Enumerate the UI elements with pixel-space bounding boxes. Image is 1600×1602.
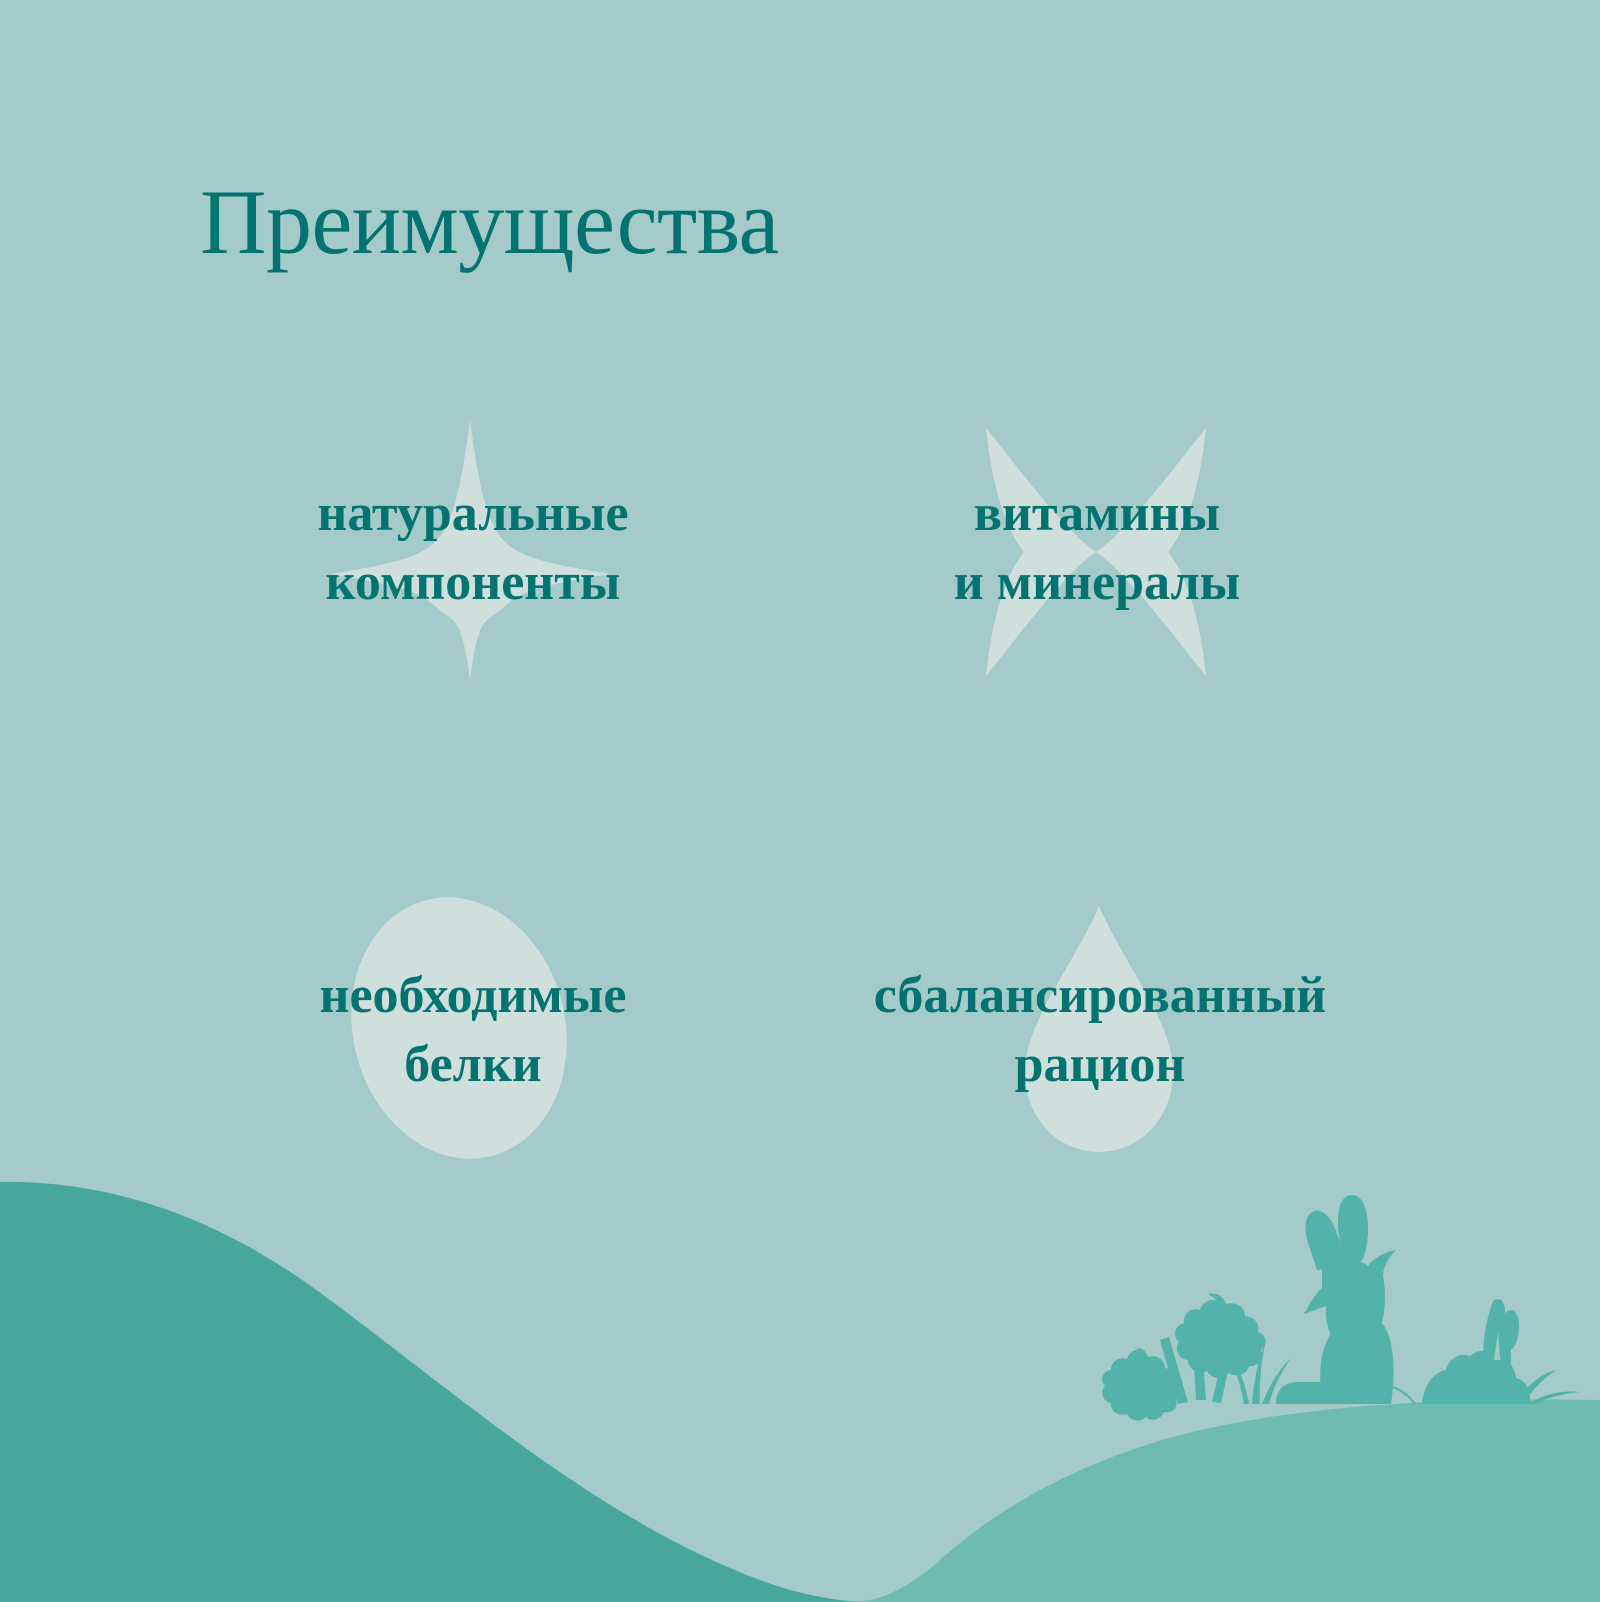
benefit-label-line1: витамины [862,480,1332,549]
benefit-label-line2: и минералы [862,549,1332,618]
benefit-label-line2: рацион [760,1031,1440,1100]
benefits-poster: Преимущества натуральные компоненты вита… [0,0,1600,1602]
benefit-item-natural-components: натуральные компоненты [200,480,746,617]
benefit-label-line2: белки [200,1031,746,1100]
benefit-item-balanced-diet: сбалансированный рацион [760,962,1440,1099]
benefit-label-line1: сбалансированный [760,962,1440,1031]
benefit-item-vitamins-minerals: витамины и минералы [862,480,1332,617]
benefit-label-line1: натуральные [200,480,746,549]
benefit-label-line1: необходимые [200,962,746,1031]
benefit-label-line2: компоненты [200,549,746,618]
benefit-item-essential-proteins: необходимые белки [200,962,746,1099]
page-title: Преимущества [200,176,779,268]
